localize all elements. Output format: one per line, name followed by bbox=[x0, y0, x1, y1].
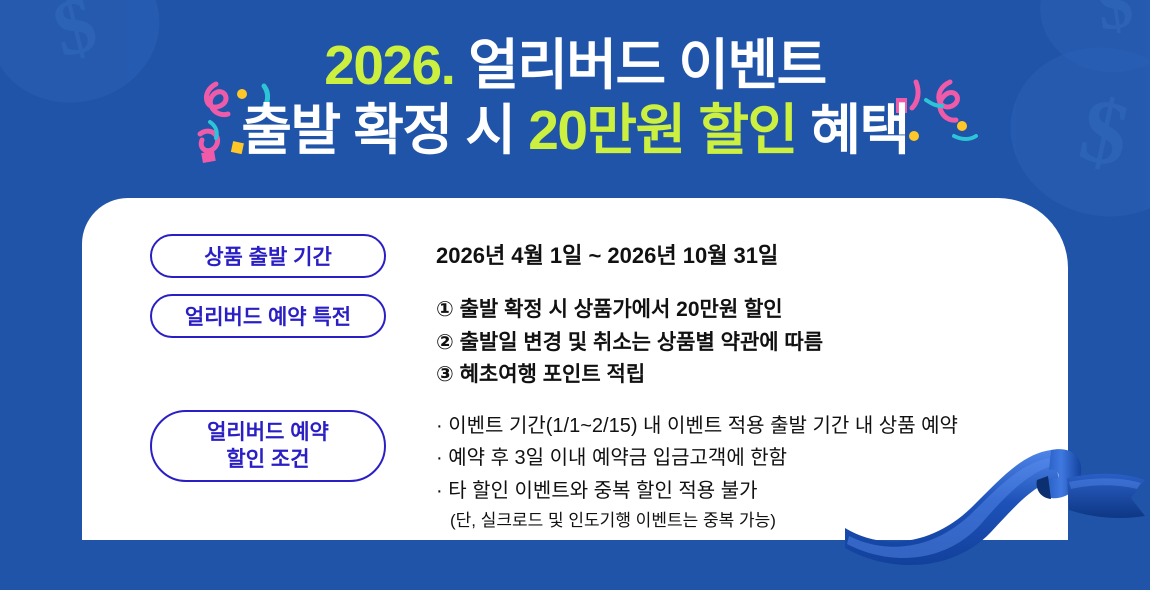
badge-conditions-line1: 얼리버드 예약 bbox=[207, 419, 329, 446]
banner-title: 2026. 얼리버드 이벤트 출발 확정 시 20만원 할인 혜택 bbox=[0, 34, 1150, 161]
promo-banner: 2026. 얼리버드 이벤트 출발 확정 시 20만원 할인 혜택 상품 출발 … bbox=[0, 0, 1150, 590]
title-year: 2026. bbox=[324, 34, 454, 96]
title-line-2: 출발 확정 시 20만원 할인 혜택 bbox=[0, 99, 1150, 162]
condition-item: · 이벤트 기간(1/1~2/15) 내 이벤트 적용 출발 기간 내 상품 예… bbox=[436, 410, 958, 442]
title-line2-post: 혜택 bbox=[810, 99, 908, 161]
departure-period-text: 2026년 4월 1일 ~ 2026년 10월 31일 bbox=[436, 234, 778, 278]
title-discount: 20만원 할인 bbox=[528, 99, 796, 161]
badge-conditions-line2: 할인 조건 bbox=[207, 446, 329, 473]
condition-note: (단, 실크로드 및 인도기행 이벤트는 중복 가능) bbox=[436, 507, 958, 535]
row-earlybird-conditions: 얼리버드 예약 할인 조건 · 이벤트 기간(1/1~2/15) 내 이벤트 적… bbox=[150, 410, 958, 535]
info-card: 상품 출발 기간 2026년 4월 1일 ~ 2026년 10월 31일 얼리버… bbox=[82, 198, 1068, 540]
benefit-item: ② 출발일 변경 및 취소는 상품별 약관에 따름 bbox=[436, 327, 823, 360]
condition-item: · 타 할인 이벤트와 중복 할인 적용 불가 bbox=[436, 475, 958, 507]
conditions-text: · 이벤트 기간(1/1~2/15) 내 이벤트 적용 출발 기간 내 상품 예… bbox=[436, 410, 958, 535]
info-rows: 상품 출발 기간 2026년 4월 1일 ~ 2026년 10월 31일 얼리버… bbox=[82, 198, 1068, 540]
title-line1-rest: 얼리버드 이벤트 bbox=[468, 34, 825, 96]
benefits-text: ① 출발 확정 시 상품가에서 20만원 할인 ② 출발일 변경 및 취소는 상… bbox=[436, 294, 823, 392]
departure-period-value: 2026년 4월 1일 ~ 2026년 10월 31일 bbox=[436, 234, 778, 278]
benefit-item: ③ 혜초여행 포인트 적립 bbox=[436, 359, 823, 392]
condition-item: · 예약 후 3일 이내 예약금 입금고객에 한함 bbox=[436, 442, 958, 474]
benefit-item: ① 출발 확정 시 상품가에서 20만원 할인 bbox=[436, 294, 823, 327]
badge-departure-period: 상품 출발 기간 bbox=[150, 234, 386, 278]
title-line2-pre: 출발 확정 시 bbox=[241, 99, 514, 161]
badge-earlybird-conditions: 얼리버드 예약 할인 조건 bbox=[150, 410, 386, 482]
row-earlybird-benefits: 얼리버드 예약 특전 ① 출발 확정 시 상품가에서 20만원 할인 ② 출발일… bbox=[150, 294, 823, 392]
benefit-list: ① 출발 확정 시 상품가에서 20만원 할인 ② 출발일 변경 및 취소는 상… bbox=[436, 294, 823, 392]
title-line-1: 2026. 얼리버드 이벤트 bbox=[0, 34, 1150, 97]
row-departure-period: 상품 출발 기간 2026년 4월 1일 ~ 2026년 10월 31일 bbox=[150, 234, 778, 278]
badge-earlybird-benefits: 얼리버드 예약 특전 bbox=[150, 294, 386, 338]
condition-list: · 이벤트 기간(1/1~2/15) 내 이벤트 적용 출발 기간 내 상품 예… bbox=[436, 410, 958, 535]
